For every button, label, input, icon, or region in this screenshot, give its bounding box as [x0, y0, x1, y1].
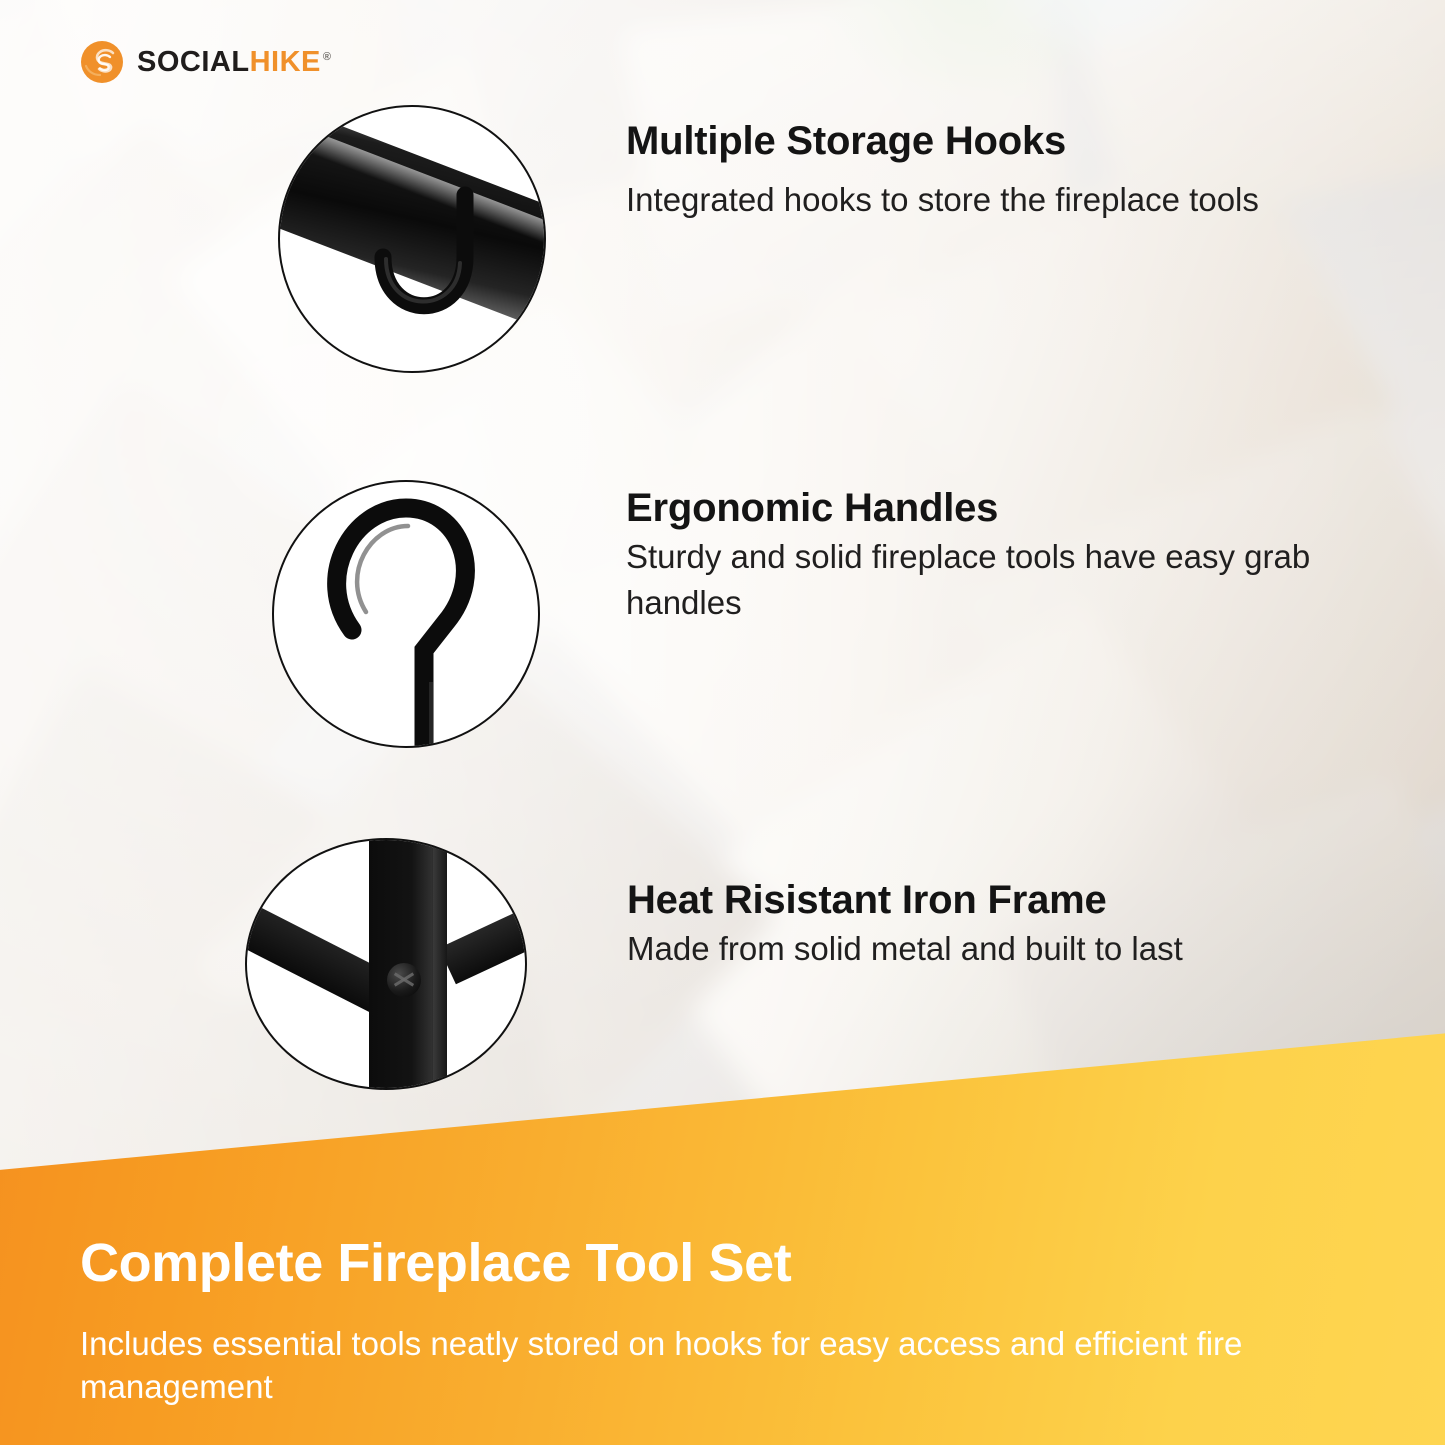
iron-frame-joint-closeup-icon: [245, 838, 527, 1090]
product-feature-infographic: SOCIALHIKE® Multiple Storage Hooks Integ…: [0, 0, 1445, 1445]
feature-row-3: Heat Risistant Iron Frame Made from soli…: [245, 838, 1183, 1090]
brand-name-part2: HIKE: [250, 46, 321, 78]
u-hook-shape: [280, 107, 546, 373]
feature-row-1: Multiple Storage Hooks Integrated hooks …: [278, 105, 1259, 373]
frame-rail-right: [439, 893, 527, 984]
feature-description: Integrated hooks to store the fireplace …: [626, 177, 1259, 223]
storage-hook-closeup-icon: [278, 105, 546, 373]
feature-title: Heat Risistant Iron Frame: [627, 878, 1183, 922]
ergonomic-loop-handle-closeup-icon: [272, 480, 540, 748]
socialhike-spiral-logo-icon: [80, 40, 124, 84]
feature-text-1: Multiple Storage Hooks Integrated hooks …: [626, 105, 1259, 223]
banner-content: Complete Fireplace Tool Set Includes ess…: [80, 1235, 1365, 1409]
frame-post-edge: [433, 838, 447, 1090]
feature-row-2: Ergonomic Handles Sturdy and solid firep…: [272, 480, 1326, 748]
brand-wordmark: SOCIALHIKE®: [137, 48, 331, 77]
loop-handle-shape: [274, 482, 540, 748]
feature-title: Multiple Storage Hooks: [626, 119, 1259, 163]
feature-title: Ergonomic Handles: [626, 486, 1326, 530]
banner-description: Includes essential tools neatly stored o…: [80, 1322, 1365, 1409]
feature-text-3: Heat Risistant Iron Frame Made from soli…: [627, 838, 1183, 972]
feature-description: Made from solid metal and built to last: [627, 926, 1183, 972]
registered-trademark-icon: ®: [323, 51, 332, 63]
feature-description: Sturdy and solid fireplace tools have ea…: [626, 534, 1326, 625]
feature-text-2: Ergonomic Handles Sturdy and solid firep…: [626, 480, 1326, 625]
bolt-icon: [387, 963, 421, 997]
brand-name-part1: SOCIAL: [137, 46, 250, 78]
banner-title: Complete Fireplace Tool Set: [80, 1235, 1365, 1292]
brand-logo: SOCIALHIKE®: [80, 40, 331, 84]
